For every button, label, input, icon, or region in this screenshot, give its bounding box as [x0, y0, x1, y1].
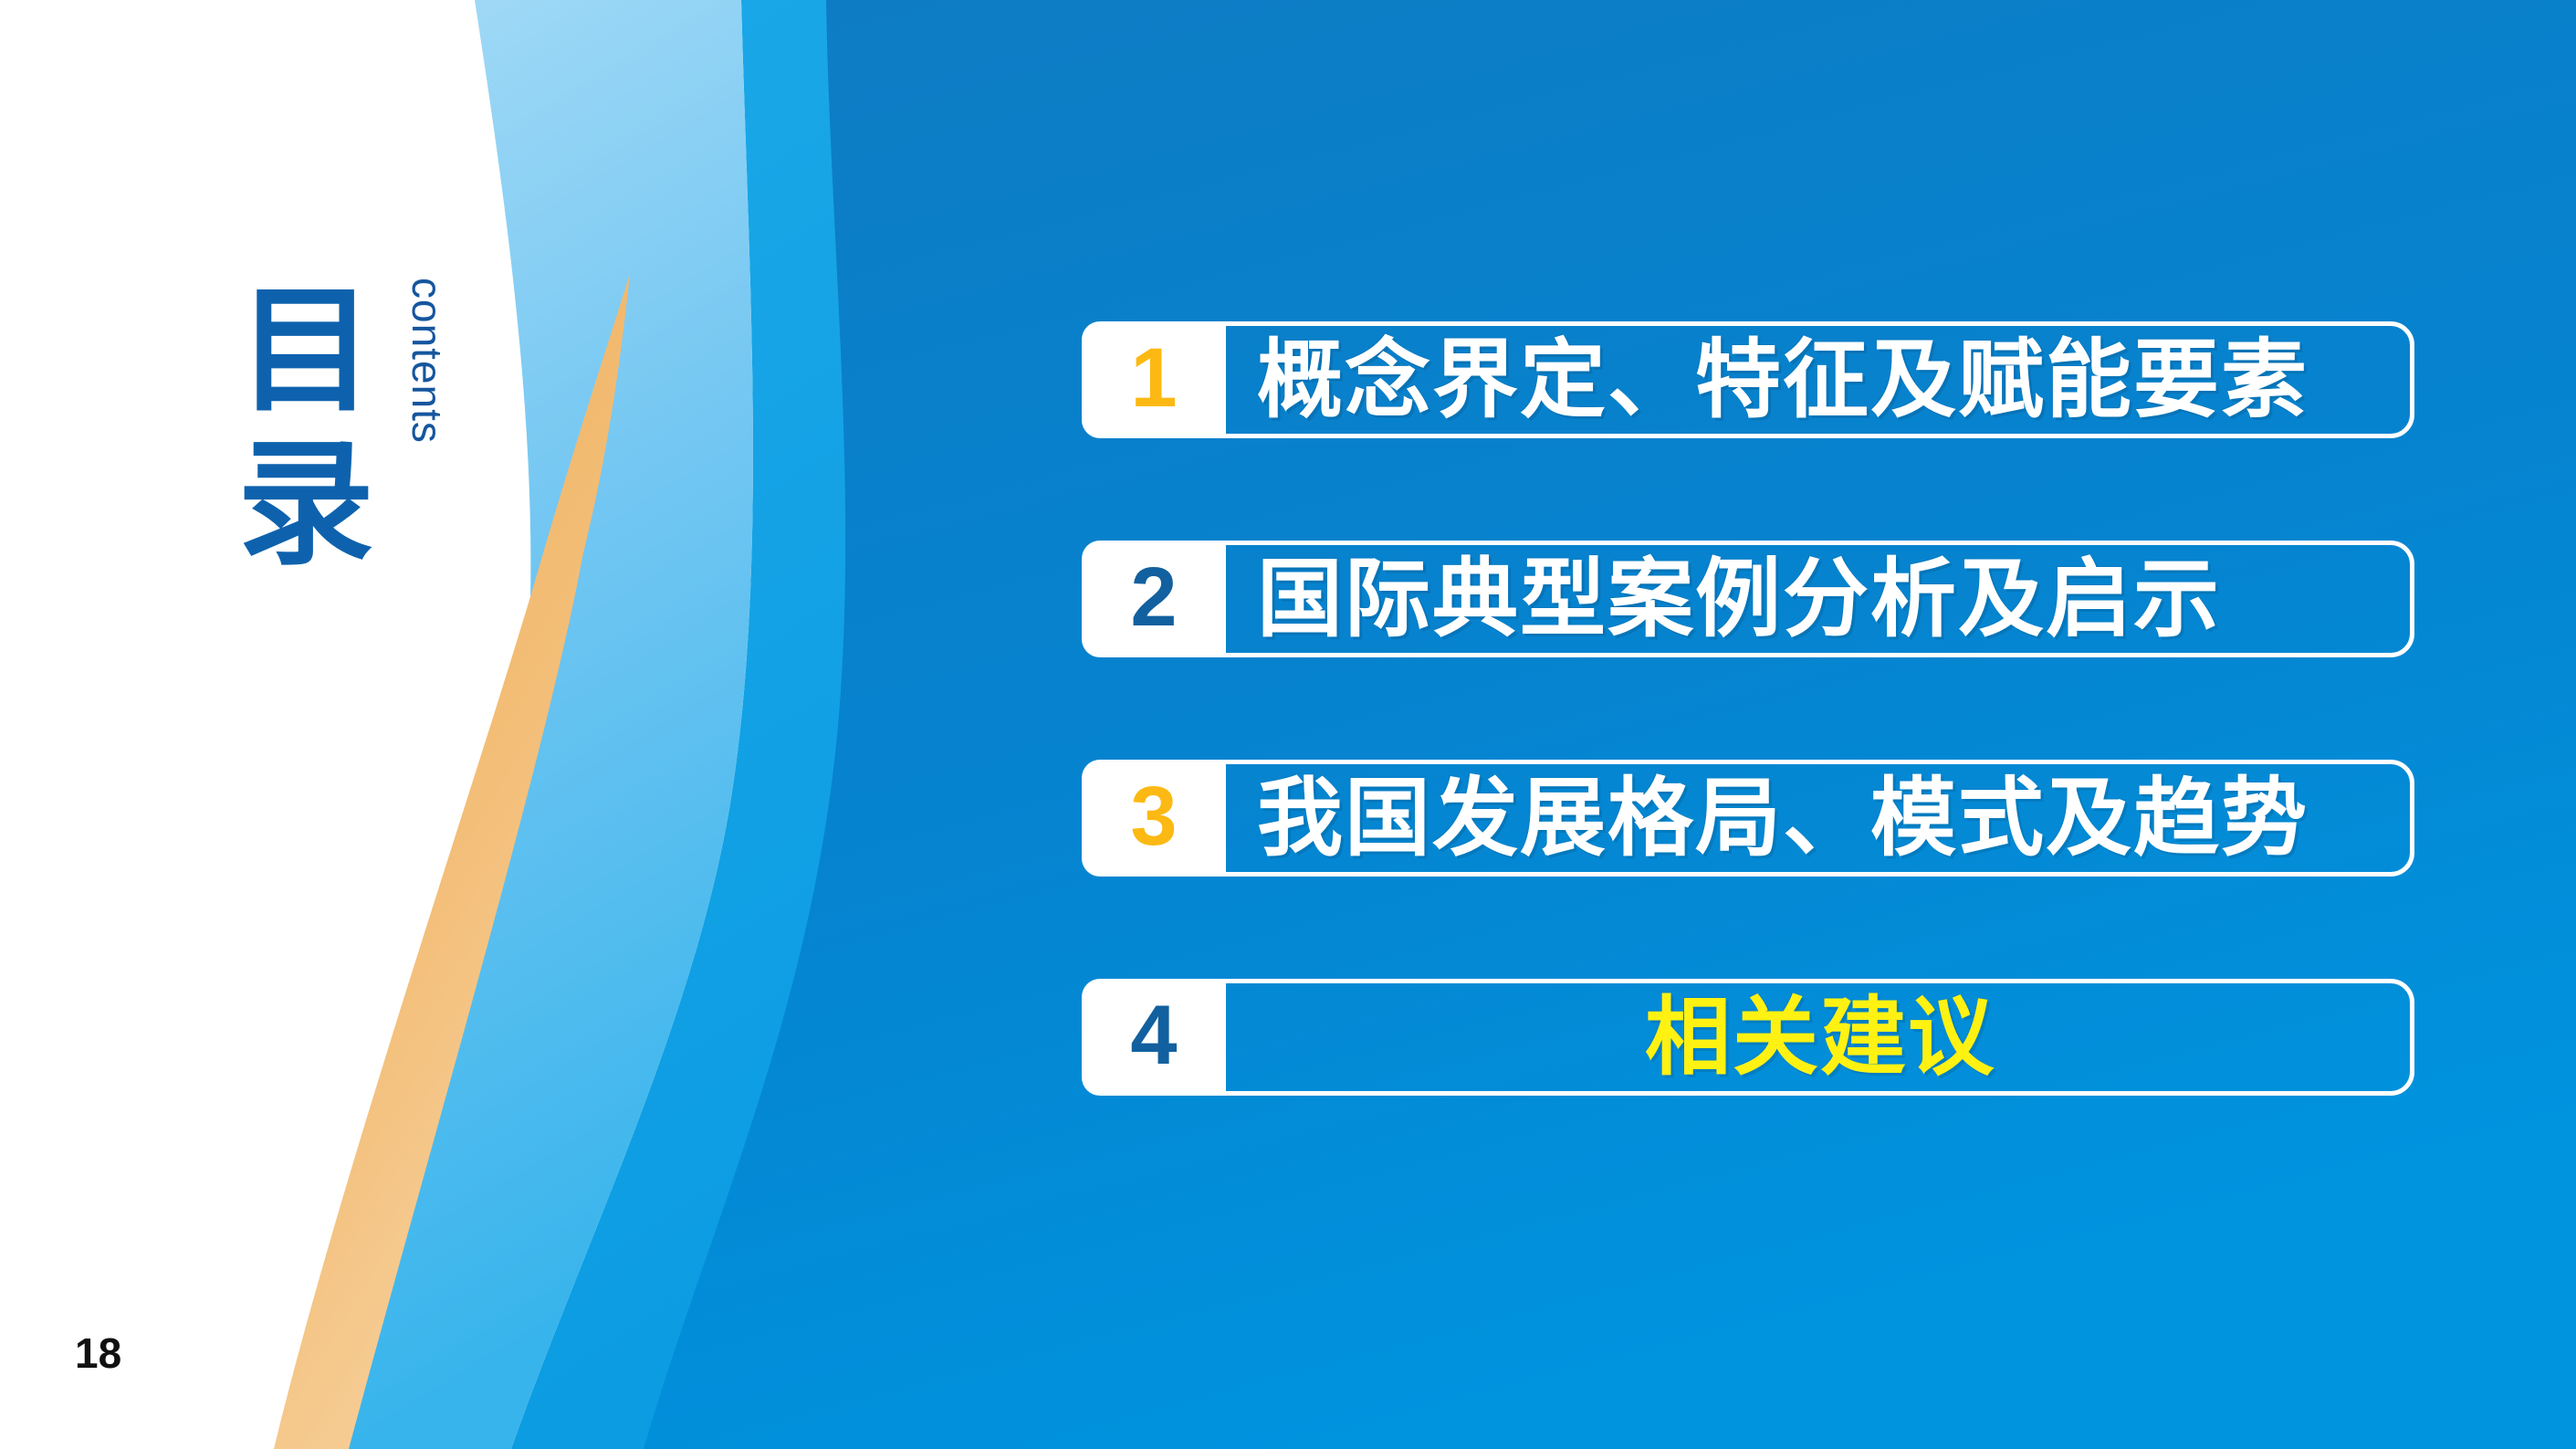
slide-canvas: 目 录 contents 1 概念界定、特征及赋能要素 2 国际典型案例分析及启…: [0, 0, 2576, 1449]
contents-heading-english: contents: [406, 278, 448, 444]
agenda-item-label: 我国发展格局、模式及趋势: [1257, 775, 2309, 861]
agenda-item-number-box: 3: [1082, 760, 1226, 877]
agenda-item-number-box: 2: [1082, 541, 1226, 657]
agenda-item-label: 概念界定、特征及赋能要素: [1257, 337, 2309, 423]
agenda-item-label-area: 相关建议: [1226, 979, 2414, 1096]
agenda-item-3[interactable]: 3 我国发展格局、模式及趋势: [1082, 760, 2414, 877]
agenda-item-number: 4: [1130, 993, 1177, 1077]
agenda-item-2[interactable]: 2 国际典型案例分析及启示: [1082, 541, 2414, 657]
page-number: 18: [75, 1328, 121, 1378]
agenda-item-number: 2: [1130, 555, 1177, 639]
agenda-item-4[interactable]: 4 相关建议: [1082, 979, 2414, 1096]
contents-heading: 目 录 contents: [219, 274, 548, 621]
agenda-item-label: 国际典型案例分析及启示: [1257, 556, 2221, 642]
agenda-item-label-area: 我国发展格局、模式及趋势: [1226, 760, 2414, 877]
agenda-item-number: 3: [1130, 774, 1177, 858]
agenda-item-number-box: 4: [1082, 979, 1226, 1096]
agenda-list: 1 概念界定、特征及赋能要素 2 国际典型案例分析及启示 3 我国发展格局、模式…: [1082, 321, 2414, 1096]
agenda-item-label: 相关建议: [1645, 994, 1995, 1080]
agenda-item-label-area: 国际典型案例分析及启示: [1226, 541, 2414, 657]
agenda-item-label-area: 概念界定、特征及赋能要素: [1226, 321, 2414, 438]
agenda-item-number-box: 1: [1082, 321, 1226, 438]
contents-heading-cjk: 目 录: [219, 274, 393, 581]
agenda-item-number: 1: [1130, 336, 1177, 420]
agenda-item-1[interactable]: 1 概念界定、特征及赋能要素: [1082, 321, 2414, 438]
